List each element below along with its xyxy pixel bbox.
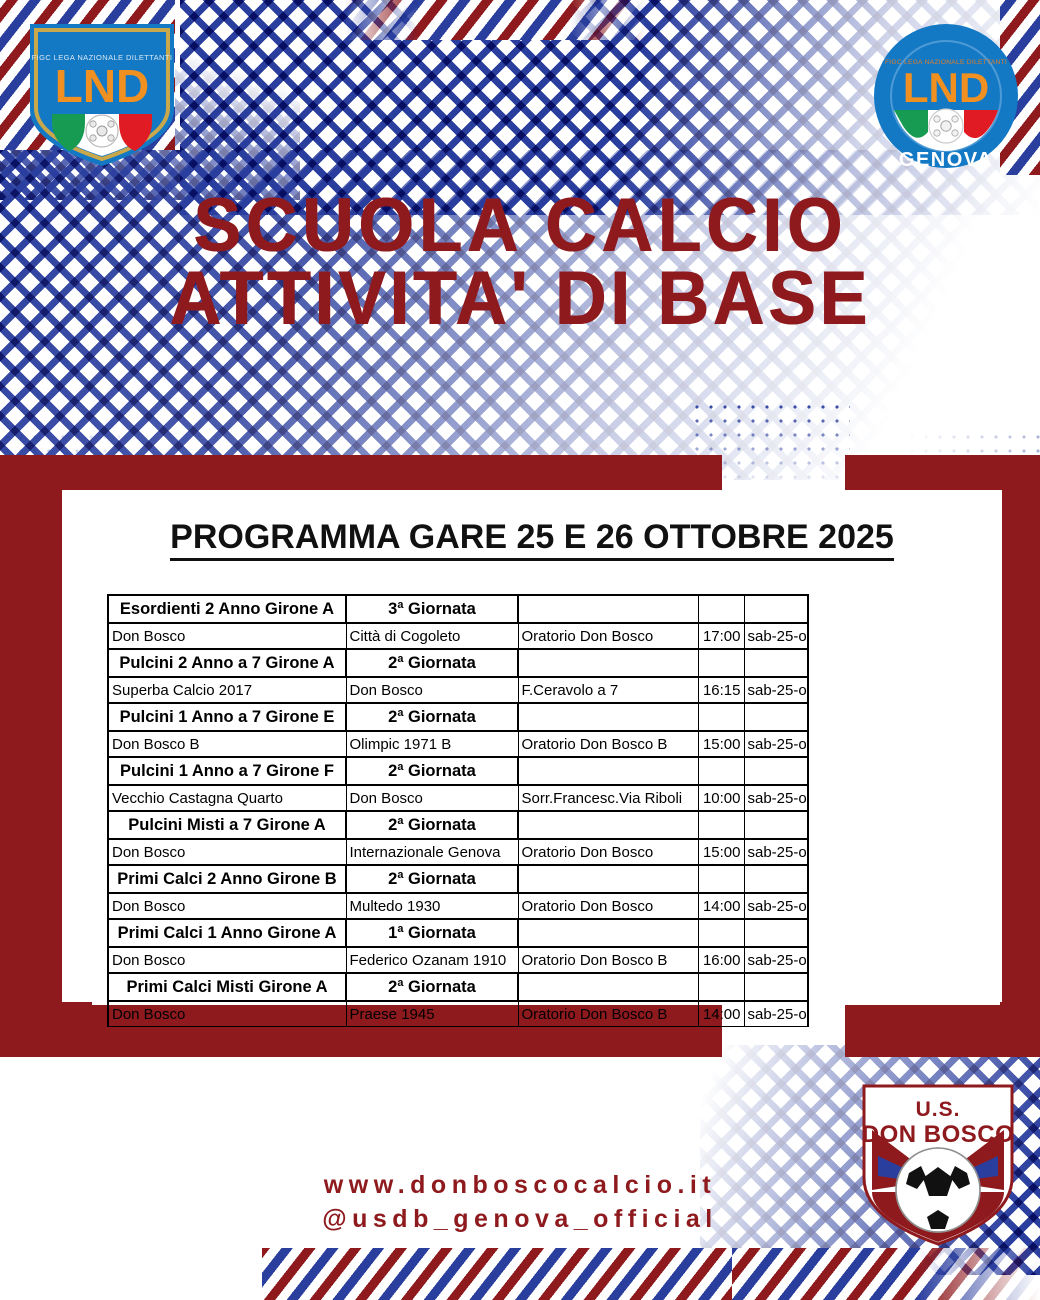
club-logo-line-1: U.S. bbox=[916, 1098, 961, 1121]
category-spacer-cell bbox=[744, 811, 808, 839]
category-spacer-cell bbox=[518, 919, 698, 947]
category-spacer-cell bbox=[698, 757, 744, 785]
kickoff-time: 10:00 bbox=[698, 785, 744, 811]
diagonal-stripes-top-middle bbox=[345, 0, 645, 40]
frame-bar-bottom-right bbox=[845, 1005, 1040, 1057]
category-row: Primi Calci 2 Anno Girone B2ª Giornata bbox=[108, 865, 808, 893]
kickoff-time: 14:00 bbox=[698, 1001, 744, 1027]
category-spacer-cell bbox=[698, 811, 744, 839]
venue: F.Ceravolo a 7 bbox=[518, 677, 698, 703]
away-team: Città di Cogoleto bbox=[346, 623, 518, 649]
matchday-label: 2ª Giornata bbox=[346, 973, 518, 1001]
poster-canvas: FIGC LEGA NAZIONALE DILETTANTI LND FIGC … bbox=[0, 0, 1040, 1300]
away-team: Internazionale Genova bbox=[346, 839, 518, 865]
category-spacer-cell bbox=[744, 703, 808, 731]
category-label: Pulcini Misti a 7 Girone A bbox=[108, 811, 346, 839]
category-row: Primi Calci Misti Girone A2ª Giornata bbox=[108, 973, 808, 1001]
match-date: sab-25-ott bbox=[744, 839, 808, 865]
match-date: sab-25-ott bbox=[744, 947, 808, 973]
category-spacer-cell bbox=[518, 973, 698, 1001]
venue: Oratorio Don Bosco bbox=[518, 623, 698, 649]
category-spacer-cell bbox=[698, 973, 744, 1001]
category-label: Pulcini 2 Anno a 7 Girone A bbox=[108, 649, 346, 677]
match-date: sab-25-ott bbox=[744, 893, 808, 919]
home-team: Vecchio Castagna Quarto bbox=[108, 785, 346, 811]
kickoff-time: 14:00 bbox=[698, 893, 744, 919]
category-row: Pulcini Misti a 7 Girone A2ª Giornata bbox=[108, 811, 808, 839]
category-spacer-cell bbox=[744, 973, 808, 1001]
home-team: Don Bosco bbox=[108, 947, 346, 973]
category-row: Pulcini 1 Anno a 7 Girone F2ª Giornata bbox=[108, 757, 808, 785]
headline-line-2: ATTIVITA' DI BASE bbox=[31, 263, 1009, 336]
diagonal-stripes-bottom-left bbox=[262, 1248, 732, 1300]
matchday-label: 2ª Giornata bbox=[346, 757, 518, 785]
kickoff-time: 17:00 bbox=[698, 623, 744, 649]
kickoff-time: 16:15 bbox=[698, 677, 744, 703]
category-spacer-cell bbox=[744, 595, 808, 623]
away-team: Praese 1945 bbox=[346, 1001, 518, 1027]
table-row: Don BoscoPraese 1945Oratorio Don Bosco B… bbox=[108, 1001, 808, 1027]
match-date: sab-25-ott bbox=[744, 731, 808, 757]
venue: Oratorio Don Bosco B bbox=[518, 947, 698, 973]
category-spacer-cell bbox=[744, 757, 808, 785]
table-row: Don BoscoCittà di CogoletoOratorio Don B… bbox=[108, 623, 808, 649]
category-row: Primi Calci 1 Anno Girone A1ª Giornata bbox=[108, 919, 808, 947]
home-team: Superba Calcio 2017 bbox=[108, 677, 346, 703]
category-row: Pulcini 1 Anno a 7 Girone E2ª Giornata bbox=[108, 703, 808, 731]
category-spacer-cell bbox=[518, 703, 698, 731]
table-row: Vecchio Castagna QuartoDon BoscoSorr.Fra… bbox=[108, 785, 808, 811]
category-spacer-cell bbox=[698, 703, 744, 731]
category-spacer-cell bbox=[698, 649, 744, 677]
away-team: Multedo 1930 bbox=[346, 893, 518, 919]
category-spacer-cell bbox=[698, 919, 744, 947]
category-row: Esordienti 2 Anno Girone A3ª Giornata bbox=[108, 595, 808, 623]
social-handle[interactable]: @usdb_genova_official bbox=[0, 1202, 1040, 1236]
kickoff-time: 15:00 bbox=[698, 839, 744, 865]
lnd-acronym: LND bbox=[55, 60, 150, 112]
table-row: Don BoscoFederico Ozanam 1910Oratorio Do… bbox=[108, 947, 808, 973]
away-team: Don Bosco bbox=[346, 677, 518, 703]
matchday-label: 2ª Giornata bbox=[346, 865, 518, 893]
category-label: Primi Calci Misti Girone A bbox=[108, 973, 346, 1001]
schedule-table-wrapper: Esordienti 2 Anno Girone A3ª GiornataDon… bbox=[107, 594, 807, 1027]
category-spacer-cell bbox=[518, 595, 698, 623]
programme-title: PROGRAMMA GARE 25 E 26 OTTOBRE 2025 bbox=[62, 518, 1002, 557]
home-team: Don Bosco B bbox=[108, 731, 346, 757]
venue: Sorr.Francesc.Via Riboli bbox=[518, 785, 698, 811]
venue: Oratorio Don Bosco bbox=[518, 839, 698, 865]
lnd-genova-acronym: LND bbox=[903, 64, 989, 111]
lnd-genova-region: GENOVA bbox=[899, 149, 993, 171]
kickoff-time: 15:00 bbox=[698, 731, 744, 757]
away-team: Federico Ozanam 1910 bbox=[346, 947, 518, 973]
venue: Oratorio Don Bosco bbox=[518, 893, 698, 919]
venue: Oratorio Don Bosco B bbox=[518, 1001, 698, 1027]
home-team: Don Bosco bbox=[108, 839, 346, 865]
table-row: Don BoscoInternazionale GenovaOratorio D… bbox=[108, 839, 808, 865]
category-spacer-cell bbox=[698, 595, 744, 623]
venue: Oratorio Don Bosco B bbox=[518, 731, 698, 757]
category-spacer-cell bbox=[744, 865, 808, 893]
category-label: Pulcini 1 Anno a 7 Girone E bbox=[108, 703, 346, 731]
category-spacer-cell bbox=[698, 865, 744, 893]
away-team: Olimpic 1971 B bbox=[346, 731, 518, 757]
kickoff-time: 16:00 bbox=[698, 947, 744, 973]
category-spacer-cell bbox=[518, 865, 698, 893]
matchday-label: 2ª Giornata bbox=[346, 811, 518, 839]
matchday-label: 1ª Giornata bbox=[346, 919, 518, 947]
website-link[interactable]: www.donboscocalcio.it bbox=[0, 1168, 1040, 1202]
category-row: Pulcini 2 Anno a 7 Girone A2ª Giornata bbox=[108, 649, 808, 677]
category-spacer-cell bbox=[518, 811, 698, 839]
programme-title-text: PROGRAMMA GARE 25 E 26 OTTOBRE 2025 bbox=[170, 518, 894, 561]
category-label: Primi Calci 2 Anno Girone B bbox=[108, 865, 346, 893]
club-logo-line-2: DON BOSCO bbox=[862, 1121, 1015, 1148]
match-date: sab-25-ott bbox=[744, 785, 808, 811]
category-spacer-cell bbox=[744, 649, 808, 677]
table-row: Don BoscoMultedo 1930Oratorio Don Bosco1… bbox=[108, 893, 808, 919]
category-spacer-cell bbox=[518, 757, 698, 785]
category-label: Esordienti 2 Anno Girone A bbox=[108, 595, 346, 623]
home-team: Don Bosco bbox=[108, 893, 346, 919]
match-date: sab-25-ott bbox=[744, 677, 808, 703]
lnd-genova-circle-logo: FIGC LEGA NAZIONALE DILETTANTI LND GENOV… bbox=[872, 22, 1020, 177]
match-date: sab-25-ott bbox=[744, 1001, 808, 1027]
diagonal-stripes-bottom-right bbox=[732, 1248, 1040, 1300]
frame-bar-right bbox=[1000, 455, 1040, 1033]
match-date: sab-25-ott bbox=[744, 623, 808, 649]
away-team: Don Bosco bbox=[346, 785, 518, 811]
home-team: Don Bosco bbox=[108, 623, 346, 649]
category-spacer-cell bbox=[518, 649, 698, 677]
category-label: Primi Calci 1 Anno Girone A bbox=[108, 919, 346, 947]
schedule-table: Esordienti 2 Anno Girone A3ª GiornataDon… bbox=[107, 594, 809, 1027]
table-row: Don Bosco BOlimpic 1971 BOratorio Don Bo… bbox=[108, 731, 808, 757]
category-label: Pulcini 1 Anno a 7 Girone F bbox=[108, 757, 346, 785]
table-row: Superba Calcio 2017Don BoscoF.Ceravolo a… bbox=[108, 677, 808, 703]
matchday-label: 2ª Giornata bbox=[346, 703, 518, 731]
footer-links: www.donboscocalcio.it @usdb_genova_offic… bbox=[0, 1168, 1040, 1236]
home-team: Don Bosco bbox=[108, 1001, 346, 1027]
poster-headline: SCUOLA CALCIO ATTIVITA' DI BASE bbox=[31, 190, 1009, 336]
matchday-label: 2ª Giornata bbox=[346, 649, 518, 677]
matchday-label: 3ª Giornata bbox=[346, 595, 518, 623]
lnd-shield-logo: FIGC LEGA NAZIONALE DILETTANTI LND bbox=[22, 18, 182, 170]
category-spacer-cell bbox=[744, 919, 808, 947]
